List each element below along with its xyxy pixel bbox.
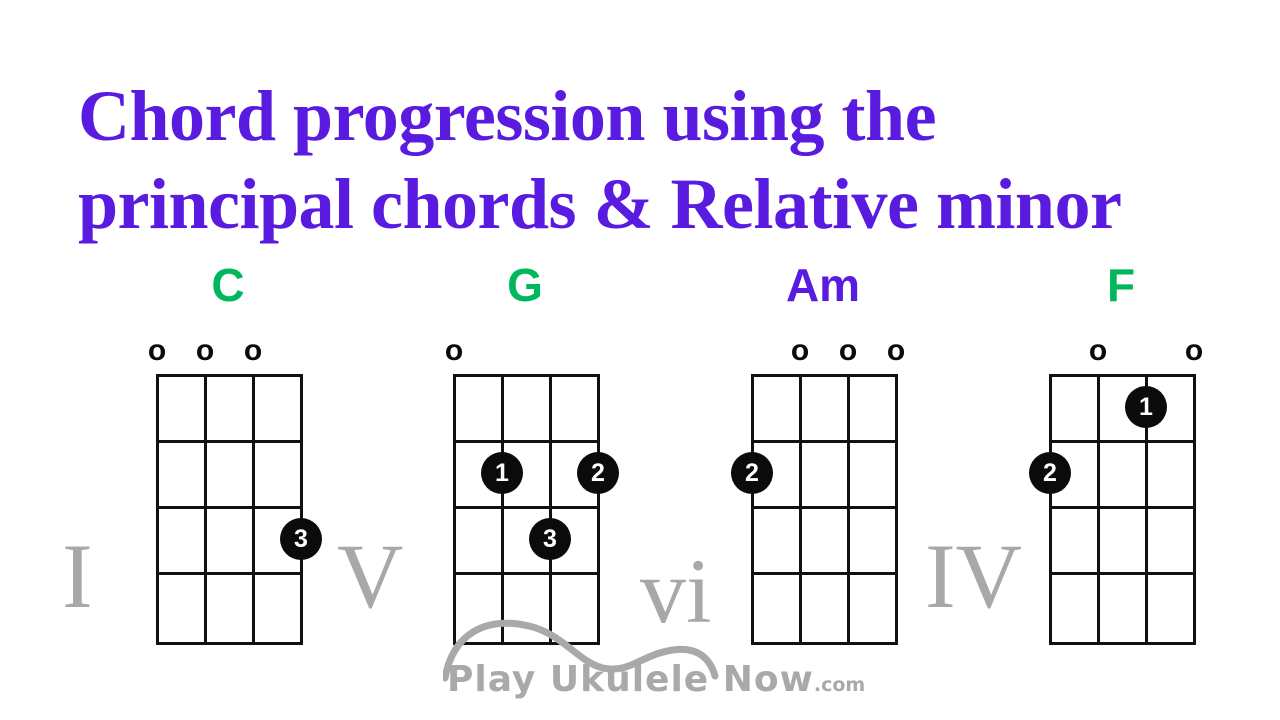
chord-name-c: C xyxy=(156,262,300,308)
fret-line-3 xyxy=(453,572,600,575)
chord-chart-page: Chord progression using the principal ch… xyxy=(0,0,1280,720)
watermark-text: Play Ukulele Now.com xyxy=(447,660,865,705)
string-line-4 xyxy=(300,374,303,645)
roman-numeral-iv: IV xyxy=(925,530,1022,622)
open-string-icon-3: o xyxy=(244,336,262,366)
fret-line-3 xyxy=(751,572,898,575)
open-string-icon-4: o xyxy=(887,336,905,366)
page-title-line-1: Chord progression using the xyxy=(78,72,1208,160)
string-line-4 xyxy=(1193,374,1196,645)
fret-line-2 xyxy=(751,506,898,509)
watermark-tld: .com xyxy=(814,674,865,696)
fret-line-4 xyxy=(1049,642,1196,645)
nut-line xyxy=(453,374,600,377)
string-line-1 xyxy=(1049,374,1052,645)
nut-line xyxy=(156,374,303,377)
page-title-line-2: principal chords & Relative minor xyxy=(78,160,1208,248)
string-line-4 xyxy=(895,374,898,645)
fret-line-1 xyxy=(453,440,600,443)
finger-dot-1: 1 xyxy=(481,452,523,494)
fret-line-2 xyxy=(1049,506,1196,509)
fret-line-1 xyxy=(1049,440,1196,443)
watermark: Play Ukulele Now.com xyxy=(443,612,843,720)
open-string-row: ooo xyxy=(156,336,300,368)
fret-line-3 xyxy=(156,572,303,575)
string-line-2 xyxy=(204,374,207,645)
string-line-1 xyxy=(453,374,456,645)
open-string-icon-2: o xyxy=(791,336,809,366)
chord-name-f: F xyxy=(1049,262,1193,308)
finger-dot-3: 3 xyxy=(280,518,322,560)
open-string-icon-2: o xyxy=(196,336,214,366)
string-line-1 xyxy=(156,374,159,645)
chord-name-am: Am xyxy=(751,262,895,308)
fretboard-grid: 3 xyxy=(156,374,300,645)
string-line-4 xyxy=(597,374,600,645)
watermark-brand: Play Ukulele Now xyxy=(447,659,814,700)
fret-line-4 xyxy=(156,642,303,645)
finger-dot-2: 2 xyxy=(731,452,773,494)
open-string-icon-3: o xyxy=(839,336,857,366)
fret-line-2 xyxy=(453,506,600,509)
chord-name-g: G xyxy=(453,262,597,308)
string-line-3 xyxy=(847,374,850,645)
fret-line-1 xyxy=(156,440,303,443)
fret-line-1 xyxy=(751,440,898,443)
roman-numeral-v: V xyxy=(337,530,403,622)
string-line-1 xyxy=(751,374,754,645)
finger-dot-3: 3 xyxy=(529,518,571,560)
string-line-2 xyxy=(799,374,802,645)
fretboard-grid: 2 xyxy=(751,374,895,645)
nut-line xyxy=(1049,374,1196,377)
open-string-row: o xyxy=(453,336,597,368)
nut-line xyxy=(751,374,898,377)
page-title: Chord progression using the principal ch… xyxy=(78,72,1208,248)
fret-line-2 xyxy=(156,506,303,509)
open-string-icon-1: o xyxy=(148,336,166,366)
string-line-2 xyxy=(501,374,504,645)
roman-numeral-i: I xyxy=(62,530,93,622)
open-string-icon-1: o xyxy=(445,336,463,366)
finger-dot-2: 2 xyxy=(577,452,619,494)
finger-dot-1: 1 xyxy=(1125,386,1167,428)
open-string-icon-4: o xyxy=(1185,336,1203,366)
fret-line-3 xyxy=(1049,572,1196,575)
open-string-row: oo xyxy=(1049,336,1193,368)
string-line-2 xyxy=(1097,374,1100,645)
string-line-3 xyxy=(252,374,255,645)
open-string-icon-2: o xyxy=(1089,336,1107,366)
string-line-3 xyxy=(549,374,552,645)
fretboard-grid: 123 xyxy=(453,374,597,645)
fretboard-grid: 12 xyxy=(1049,374,1193,645)
open-string-row: ooo xyxy=(751,336,895,368)
finger-dot-2: 2 xyxy=(1029,452,1071,494)
